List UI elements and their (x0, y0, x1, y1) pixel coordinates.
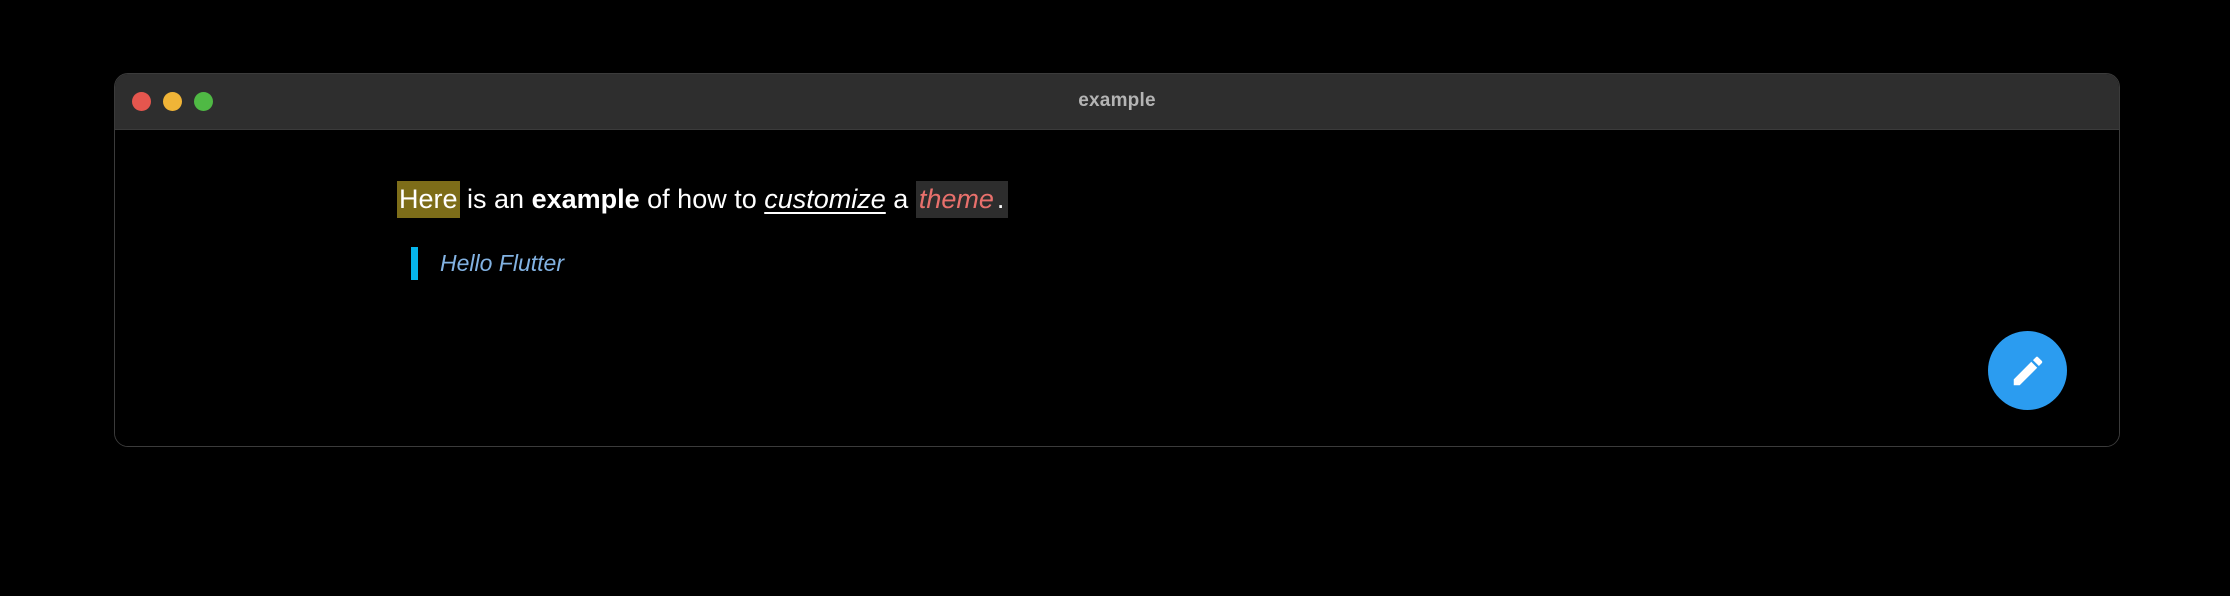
rich-text-paragraph: Here is an example of how to customize a… (397, 183, 1008, 217)
desktop-backdrop: example Here is an example of how to cus… (0, 0, 2230, 596)
text-segment-italic-underline: customize (764, 184, 886, 214)
text-segment-code-period: . (997, 181, 1009, 218)
pencil-icon (2009, 352, 2047, 390)
text-segment-code: theme (916, 181, 997, 218)
window-body: Here is an example of how to customize a… (115, 130, 2119, 447)
app-window: example Here is an example of how to cus… (114, 73, 2120, 447)
text-segment-plain-3: a (886, 184, 916, 214)
text-segment-bold: example (532, 184, 640, 214)
maximize-button[interactable] (194, 92, 213, 111)
window-title: example (115, 74, 2119, 128)
close-button[interactable] (132, 92, 151, 111)
blockquote: Hello Flutter (411, 247, 564, 280)
window-title-bar[interactable]: example (115, 74, 2119, 130)
edit-fab[interactable] (1988, 331, 2067, 410)
text-segment-plain-2: of how to (640, 184, 765, 214)
text-segment-plain-1: is an (460, 184, 532, 214)
blockquote-accent-bar (411, 247, 418, 280)
content-area: Here is an example of how to customize a… (397, 183, 1008, 217)
blockquote-text: Hello Flutter (440, 250, 564, 277)
minimize-button[interactable] (163, 92, 182, 111)
text-segment-highlight: Here (397, 181, 460, 218)
traffic-light-group (115, 92, 213, 111)
